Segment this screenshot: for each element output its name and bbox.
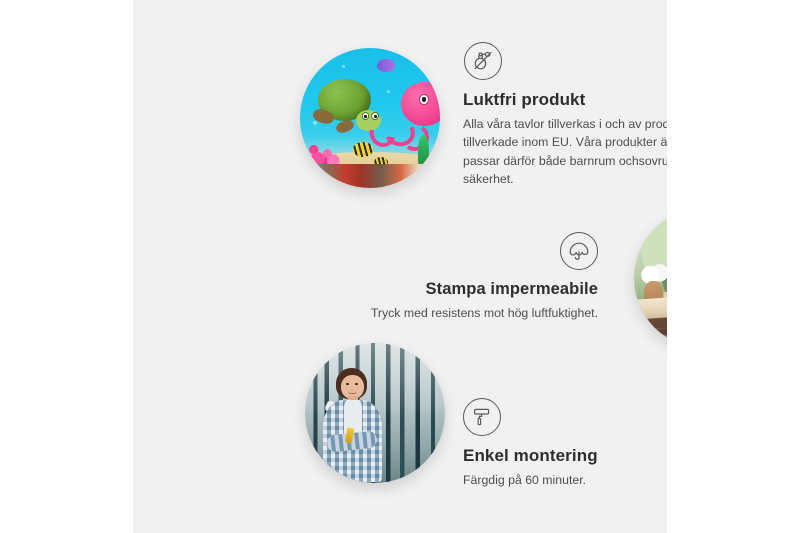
product-image-aquarium[interactable] xyxy=(300,48,440,188)
lower-room-strip xyxy=(300,164,440,188)
feature-assembly-icon-wrap xyxy=(463,398,667,436)
feature-odourless-title: Luktfri produkt xyxy=(463,90,667,110)
feature-waterproof-description: Tryck med resistens mot hög luftfuktighe… xyxy=(313,304,598,322)
feature-assembly-description: Färgdig på 60 minuter. xyxy=(463,471,667,489)
umbrella-icon xyxy=(560,232,598,270)
page-root: Luktfri produkt Alla våra tavlor tillver… xyxy=(0,0,800,533)
no-fragrance-icon xyxy=(464,42,502,80)
bubble-icon xyxy=(313,121,317,125)
product-image-painter[interactable] xyxy=(305,343,445,483)
feature-waterproof-title: Stampa impermeabile xyxy=(313,280,598,299)
feature-waterproof-icon-wrap xyxy=(313,232,598,270)
feature-odourless: Luktfri produkt Alla våra tavlor tillver… xyxy=(463,42,667,189)
content-panel: Luktfri produkt Alla våra tavlor tillver… xyxy=(133,0,667,533)
feature-odourless-description: Alla våra tavlor tillverkas i och av pro… xyxy=(463,115,667,189)
paint-roller-icon xyxy=(463,398,501,436)
seaweed xyxy=(418,135,429,166)
bubble-icon xyxy=(387,90,390,93)
feature-waterproof: Stampa impermeabile Tryck med resistens … xyxy=(313,232,598,322)
cabinet-drawer xyxy=(655,325,667,344)
feature-assembly-title: Enkel montering xyxy=(463,446,667,466)
product-image-bathroom[interactable] xyxy=(634,208,667,348)
fish-purple xyxy=(377,59,395,72)
fish-yellow xyxy=(353,142,373,157)
feature-odourless-icon-wrap xyxy=(463,42,667,80)
feature-assembly: Enkel montering Färgdig på 60 minuter. xyxy=(463,398,667,489)
